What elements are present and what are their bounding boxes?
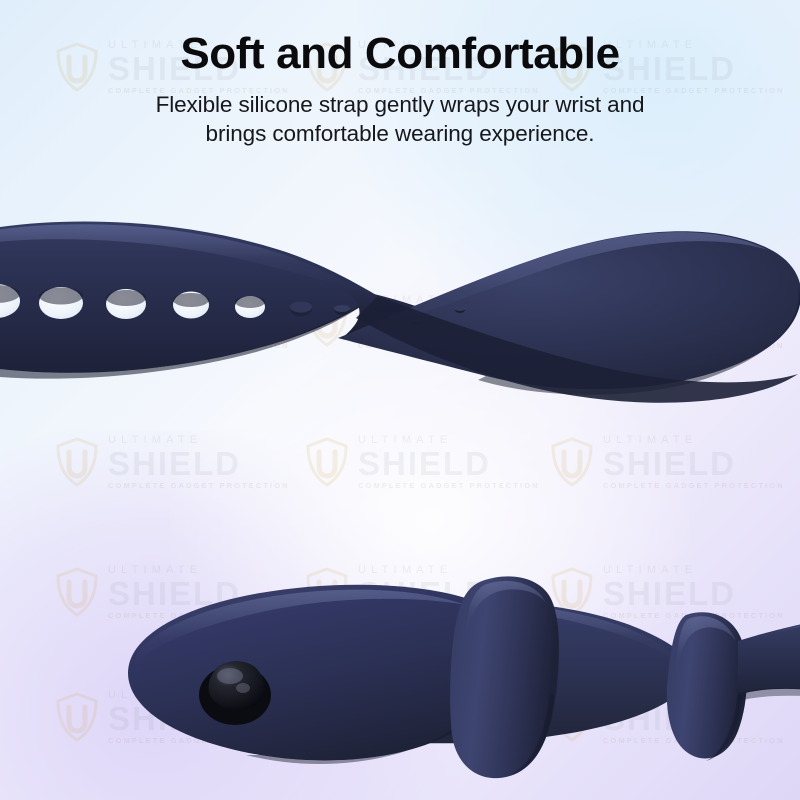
page-title: Soft and Comfortable bbox=[0, 30, 800, 78]
strap-keeper-loop-secondary bbox=[667, 612, 747, 761]
header-block: Soft and Comfortable Flexible silicone s… bbox=[0, 30, 800, 149]
subtitle-line-1: Flexible silicone strap gently wraps you… bbox=[156, 92, 645, 117]
page-subtitle: Flexible silicone strap gently wraps you… bbox=[70, 90, 730, 150]
strap-tail bbox=[738, 611, 800, 701]
product-feature-image: ULTIMATESHIELDCOMPLETE GADGET PROTECTION… bbox=[0, 0, 800, 800]
strap-keeper-loop-primary bbox=[450, 576, 559, 778]
subtitle-line-2: brings comfortable wearing experience. bbox=[206, 121, 595, 146]
twisted-silicone-band-image bbox=[0, 190, 800, 420]
strap-buckle-closeup-image bbox=[110, 545, 800, 795]
